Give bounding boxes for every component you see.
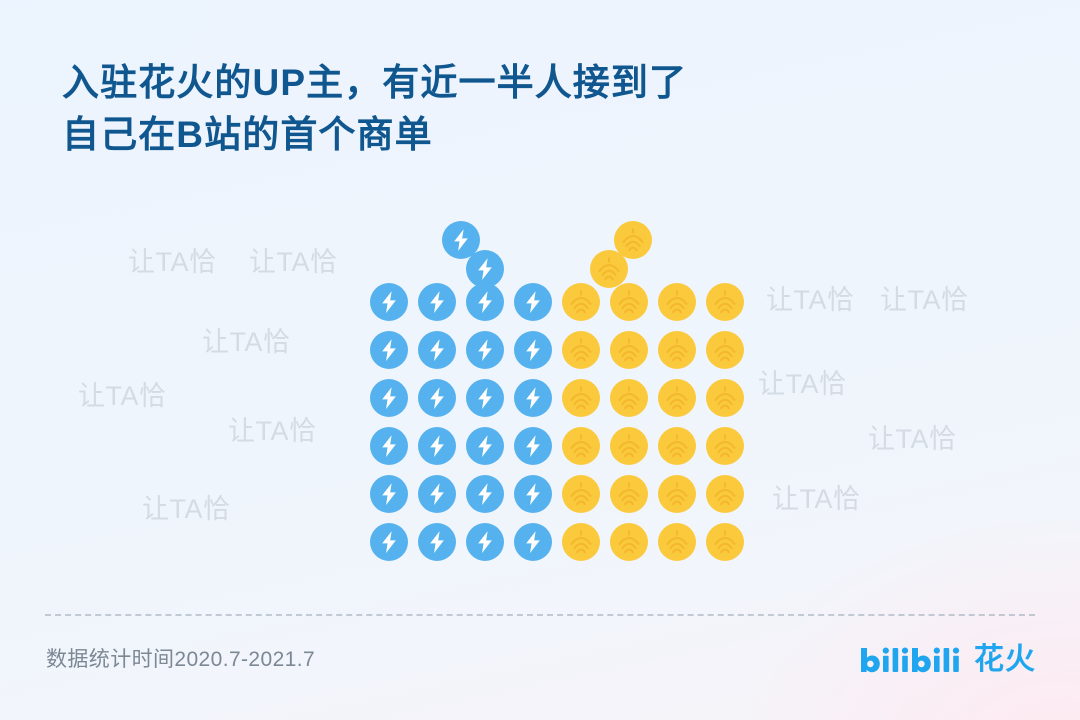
lightning-icon (466, 250, 504, 288)
coin-icon (614, 221, 652, 259)
coin-icon (562, 283, 600, 321)
lightning-icon (370, 379, 408, 417)
coin-icon (658, 523, 696, 561)
footer-divider (45, 614, 1035, 616)
lightning-icon (466, 331, 504, 369)
lightning-icon (514, 379, 552, 417)
lightning-icon (370, 427, 408, 465)
coin-icon (706, 523, 744, 561)
lightning-icon (466, 379, 504, 417)
lightning-icon (466, 523, 504, 561)
lightning-icon (514, 283, 552, 321)
coin-icon (610, 427, 648, 465)
coin-icon (610, 283, 648, 321)
coin-icon (706, 379, 744, 417)
lightning-icon (370, 331, 408, 369)
coin-icon (706, 283, 744, 321)
coin-icon (658, 331, 696, 369)
coin-icon (562, 379, 600, 417)
coin-icon (610, 523, 648, 561)
lightning-icon (514, 331, 552, 369)
data-period-note: 数据统计时间2020.7-2021.7 (46, 643, 315, 673)
coin-icon (658, 283, 696, 321)
coin-icon (706, 475, 744, 513)
lightning-icon (418, 475, 456, 513)
infographic-poster: 入驻花火的UP主，有近一半人接到了 自己在B站的首个商单 让TA恰让TA恰让TA… (0, 0, 1080, 720)
lightning-icon (370, 283, 408, 321)
coin-icon (562, 427, 600, 465)
lightning-icon (418, 427, 456, 465)
lightning-icon (466, 427, 504, 465)
coin-icon (658, 427, 696, 465)
lightning-icon (418, 283, 456, 321)
bilibili-huahuo-logo: 花火 (859, 645, 1036, 675)
lightning-icon (466, 475, 504, 513)
lightning-icon (418, 331, 456, 369)
coin-icon (562, 523, 600, 561)
lightning-icon (514, 475, 552, 513)
pictogram-chart (0, 0, 1080, 720)
lightning-icon (466, 283, 504, 321)
coin-icon (658, 379, 696, 417)
coin-icon (562, 475, 600, 513)
coin-icon (610, 475, 648, 513)
coin-icon (562, 331, 600, 369)
coin-icon (610, 331, 648, 369)
bilibili-wordmark-icon (859, 645, 963, 675)
lightning-icon (370, 475, 408, 513)
lightning-icon (370, 523, 408, 561)
huahuo-wordmark: 花火 (974, 645, 1036, 675)
coin-icon (610, 379, 648, 417)
lightning-icon (514, 427, 552, 465)
coin-icon (706, 331, 744, 369)
coin-icon (658, 475, 696, 513)
coin-icon (706, 427, 744, 465)
lightning-icon (418, 523, 456, 561)
lightning-icon (514, 523, 552, 561)
lightning-icon (418, 379, 456, 417)
